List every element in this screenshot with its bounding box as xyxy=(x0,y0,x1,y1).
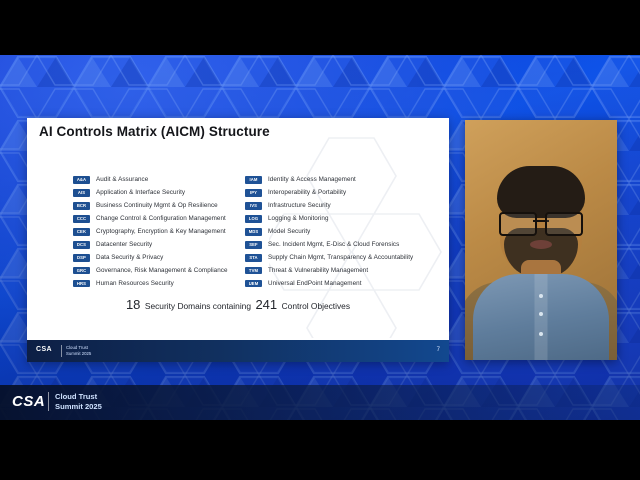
broadcast-csa-logo: CSA xyxy=(12,393,45,410)
presentation-slide: AI Controls Matrix (AICM) Structure A&AA… xyxy=(27,118,449,362)
domain-label: Supply Chain Mgmt, Transparency & Accoun… xyxy=(268,254,413,261)
domain-label: Datacenter Security xyxy=(96,241,152,248)
domain-label: Audit & Assurance xyxy=(96,176,148,183)
right-lens xyxy=(545,212,583,236)
domain-code-badge: SEF xyxy=(245,241,262,249)
domain-label: Threat & Vulnerability Management xyxy=(268,267,368,274)
domain-code-badge: AIS xyxy=(73,189,90,197)
broadcast-logo-divider xyxy=(48,392,49,411)
domain-code-badge: IVS xyxy=(245,202,262,210)
control-domains-right-column: IAMIdentity & Access ManagementIPYIntero… xyxy=(245,174,449,291)
csa-logo: CSA xyxy=(36,346,52,353)
slide-page-number: 7 xyxy=(437,347,440,353)
control-domain-row: LOGLogging & Monitoring xyxy=(245,213,449,225)
domain-code-badge: MDS xyxy=(245,228,262,236)
domain-label: Logging & Monitoring xyxy=(268,215,329,222)
domain-label: Identity & Access Management xyxy=(268,176,356,183)
domain-code-badge: IPY xyxy=(245,189,262,197)
broadcast-event-name: Cloud Trust Summit 2025 xyxy=(55,392,102,411)
domain-code-badge: LOG xyxy=(245,215,262,223)
video-player-stage: AI Controls Matrix (AICM) Structure A&AA… xyxy=(0,0,640,480)
shirt-placket xyxy=(535,274,548,360)
logo-divider xyxy=(61,345,62,357)
slide-title: AI Controls Matrix (AICM) Structure xyxy=(39,124,270,139)
slide-summary-line: 18 Security Domains containing 241 Contr… xyxy=(27,296,449,314)
letterbox-top xyxy=(0,0,640,55)
objectives-count-text: Control Objectives xyxy=(282,301,350,311)
domain-label: Interoperability & Portability xyxy=(268,189,346,196)
domain-code-badge: GRC xyxy=(73,267,90,275)
domain-label: Data Security & Privacy xyxy=(96,254,163,261)
control-domain-row: SEFSec. Incident Mgmt, E-Disc & Cloud Fo… xyxy=(245,239,449,251)
domain-label: Model Security xyxy=(268,228,310,235)
speaker-mouth xyxy=(530,240,552,249)
domain-label: Infrastructure Security xyxy=(268,202,331,209)
speaker-webcam-feed xyxy=(465,120,617,360)
shirt-button xyxy=(539,332,543,336)
shirt-button xyxy=(539,312,543,316)
control-domain-row: MDSModel Security xyxy=(245,226,449,238)
domain-label: Cryptography, Encryption & Key Managemen… xyxy=(96,228,226,235)
domain-code-badge: TVM xyxy=(245,267,262,275)
domain-code-badge: BCR xyxy=(73,202,90,210)
control-domain-row: IAMIdentity & Access Management xyxy=(245,174,449,186)
domain-label: Human Resources Security xyxy=(96,280,174,287)
domain-code-badge: IAM xyxy=(245,176,262,184)
letterbox-bottom xyxy=(0,420,640,480)
domain-code-badge: DCS xyxy=(73,241,90,249)
control-domain-row: STASupply Chain Mgmt, Transparency & Acc… xyxy=(245,252,449,264)
control-domain-row: IPYInteroperability & Portability xyxy=(245,187,449,199)
domain-code-badge: CCC xyxy=(73,215,90,223)
left-lens xyxy=(499,212,537,236)
speaker-shirt xyxy=(473,274,609,360)
domain-code-badge: STA xyxy=(245,254,262,262)
slide-footer-band: CSA Cloud Trust Summit 2025 7 xyxy=(27,340,449,362)
domain-code-badge: A&A xyxy=(73,176,90,184)
domain-code-badge: CEK xyxy=(73,228,90,236)
speaker-hair xyxy=(497,166,585,218)
domain-label: Application & Interface Security xyxy=(96,189,185,196)
control-domain-row: IVSInfrastructure Security xyxy=(245,200,449,212)
domain-label: Change Control & Configuration Managemen… xyxy=(96,215,226,222)
csa-logo-subtitle: Cloud Trust Summit 2025 xyxy=(66,345,91,357)
domains-count-text: Security Domains containing xyxy=(145,301,251,311)
domain-code-badge: HRS xyxy=(73,280,90,288)
control-domain-row: TVMThreat & Vulnerability Management xyxy=(245,265,449,277)
domain-label: Business Continuity Mgmt & Op Resilience xyxy=(96,202,218,209)
domain-label: Universal EndPoint Management xyxy=(268,280,362,287)
domain-code-badge: UEM xyxy=(245,280,262,288)
domain-code-badge: DSP xyxy=(73,254,90,262)
control-domain-row: UEMUniversal EndPoint Management xyxy=(245,278,449,290)
eyeglasses-icon xyxy=(499,212,583,232)
broadcast-lower-third: CSA Cloud Trust Summit 2025 xyxy=(0,385,640,420)
shirt-button xyxy=(539,294,543,298)
domains-count: 18 xyxy=(126,297,140,312)
objectives-count: 241 xyxy=(255,297,277,312)
domain-label: Governance, Risk Management & Compliance xyxy=(96,267,228,274)
domain-label: Sec. Incident Mgmt, E-Disc & Cloud Foren… xyxy=(268,241,399,248)
